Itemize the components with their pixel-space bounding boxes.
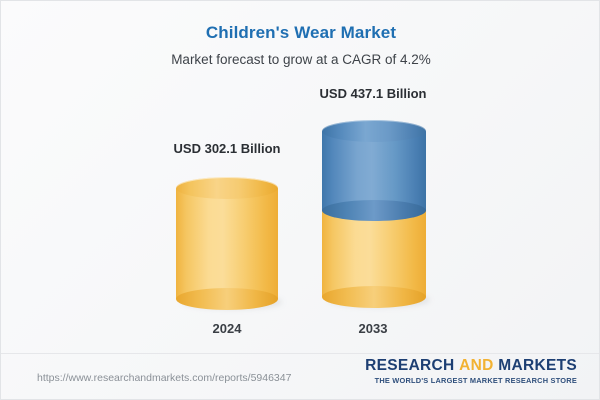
bar-value-label-2033: USD 437.1 Billion	[317, 86, 429, 101]
axis-label-2033: 2033	[317, 321, 429, 336]
bar-top-cap	[322, 120, 426, 142]
bar-top-cap	[176, 177, 278, 199]
bar-bottom-cap	[322, 286, 426, 308]
bar-cylinder-2033[interactable]	[322, 120, 426, 307]
report-url[interactable]: https://www.researchandmarkets.com/repor…	[37, 372, 291, 384]
bar-bottom-cap	[176, 288, 278, 310]
logo-tagline: THE WORLD'S LARGEST MARKET RESEARCH STOR…	[365, 376, 577, 385]
bar-segment-base	[322, 209, 426, 297]
bar-segment-growth	[322, 131, 426, 211]
research-and-markets-logo[interactable]: RESEARCH AND MARKETS THE WORLD'S LARGEST…	[365, 358, 577, 385]
chart-card: Children's Wear Market Market forecast t…	[0, 0, 600, 400]
bar-segment-growth-bottom-cap	[322, 200, 426, 221]
logo-word-and: AND	[459, 357, 493, 374]
logo-wordmark: RESEARCH AND MARKETS	[365, 358, 577, 374]
bar-cylinder-2024[interactable]	[176, 177, 278, 309]
chart-plot-area: USD 302.1 Billion 2024 USD 437.1 Billion	[1, 1, 600, 346]
bar-value-label-2024: USD 302.1 Billion	[171, 141, 283, 156]
axis-label-2024: 2024	[171, 321, 283, 336]
logo-word-research: RESEARCH	[365, 357, 454, 374]
logo-word-markets: MARKETS	[498, 357, 577, 374]
footer-divider	[1, 353, 600, 354]
bar-segment-base	[176, 188, 278, 299]
